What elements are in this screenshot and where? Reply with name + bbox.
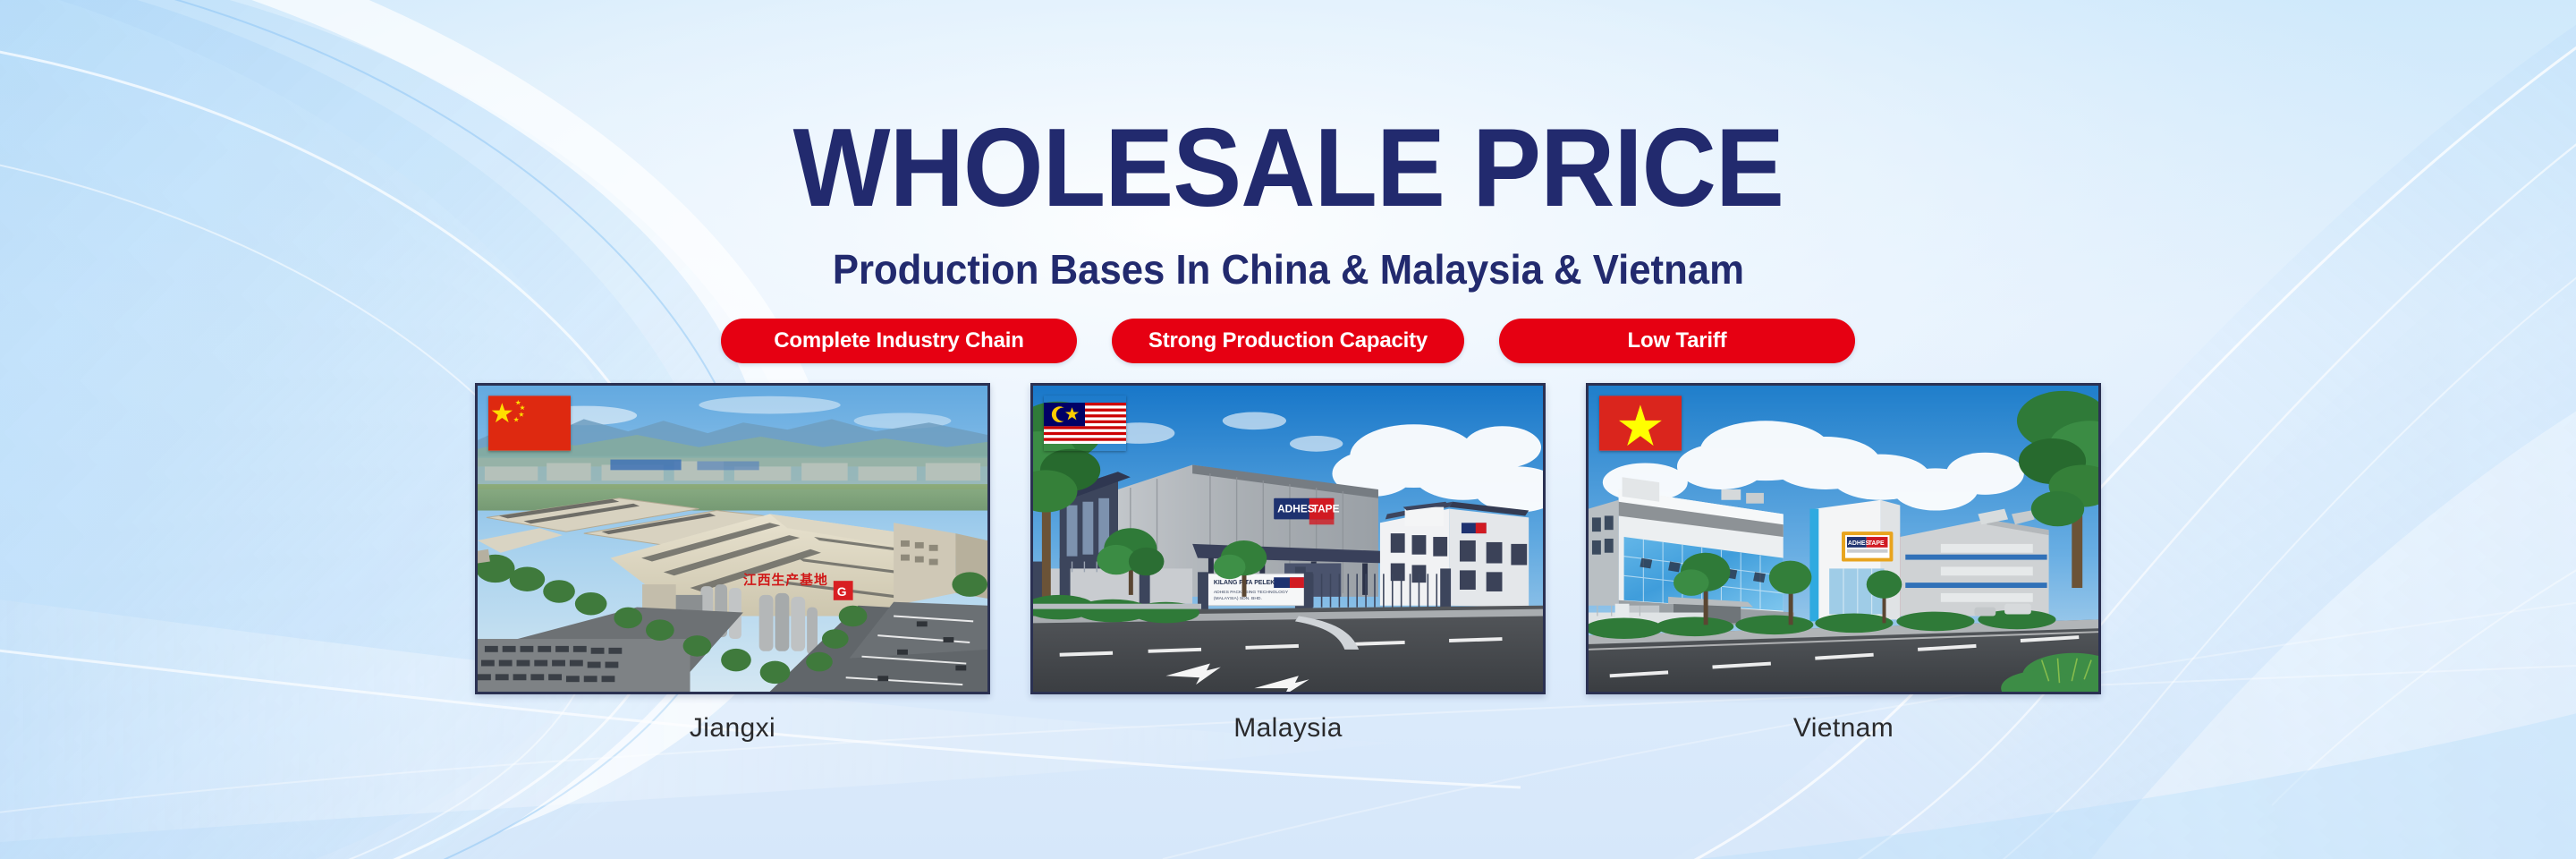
wholesale-price-banner: WHOLESALE PRICE Production Bases In Chin… [0,0,2576,859]
svg-text:G: G [837,585,847,599]
svg-text:江西生产基地: 江西生产基地 [743,572,828,588]
badge-complete-industry-chain[interactable]: Complete Industry Chain [721,319,1077,363]
card-caption-jiangxi: Jiangxi [690,713,775,744]
card-caption-malaysia: Malaysia [1233,713,1343,744]
badge-low-tariff[interactable]: Low Tariff [1499,319,1855,363]
svg-text:TAPE: TAPE [1868,540,1885,547]
svg-text:ADHES PACKAGING TECHNOLOGY: ADHES PACKAGING TECHNOLOGY [1214,590,1289,595]
factory-photo-jiangxi[interactable]: 江西生产基地 G [475,383,990,694]
china-flag-icon [488,395,571,451]
production-base-card-group: 江西生产基地 G [475,383,2101,744]
factory-photo-malaysia[interactable]: ADHES TAPE [1030,383,1546,694]
production-base-card-malaysia[interactable]: ADHES TAPE [1030,383,1546,744]
vietnam-flag-icon [1599,395,1682,451]
production-base-card-vietnam[interactable]: ADHES TAPE [1586,383,2101,744]
svg-text:ADHES: ADHES [1848,540,1870,547]
factory-photo-vietnam[interactable]: ADHES TAPE [1586,383,2101,694]
svg-text:TAPE: TAPE [1312,503,1340,515]
svg-text:ADHES: ADHES [1277,503,1315,515]
feature-badge-group: Complete Industry Chain Strong Productio… [721,319,1855,363]
production-base-card-jiangxi[interactable]: 江西生产基地 G [475,383,990,744]
svg-text:KILANG PITA PELEKAT: KILANG PITA PELEKAT [1214,580,1284,586]
card-caption-vietnam: Vietnam [1793,713,1894,744]
page-title: WHOLESALE PRICE [792,113,1783,224]
malaysia-flag-icon [1044,395,1126,451]
svg-text:(MALAYSIA) SDN. BHD.: (MALAYSIA) SDN. BHD. [1214,596,1262,601]
badge-strong-production-capacity[interactable]: Strong Production Capacity [1112,319,1464,363]
page-subtitle: Production Bases In China & Malaysia & V… [832,245,1743,293]
